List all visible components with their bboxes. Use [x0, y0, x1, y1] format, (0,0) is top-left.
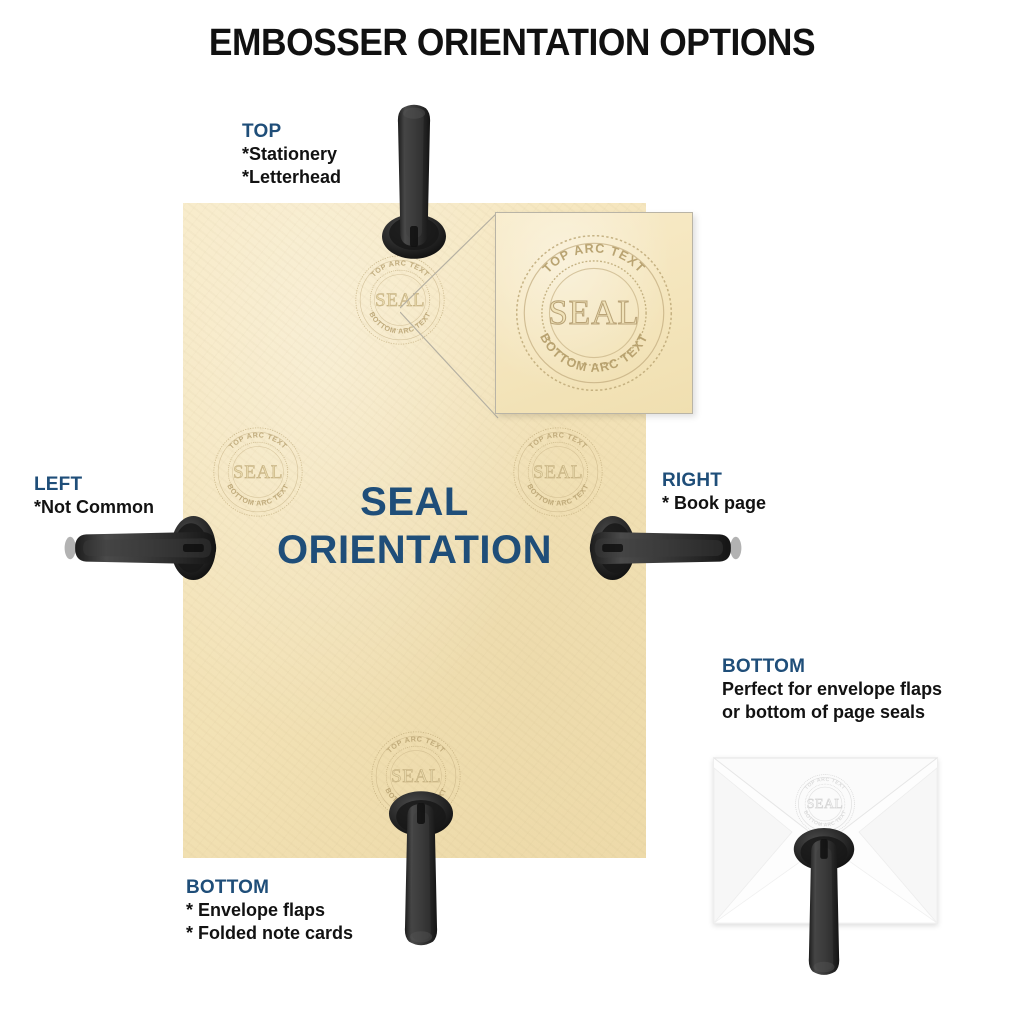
- callout-bottom-page: BOTTOM * Envelope flaps * Folded note ca…: [186, 876, 353, 945]
- callout-right-line1: * Book page: [662, 492, 766, 515]
- callout-left: LEFT *Not Common: [34, 473, 154, 519]
- callout-top-line2: *Letterhead: [242, 166, 341, 189]
- seal-impression-top: TOP ARC TEXT BOTTOM ARC TEXT SEAL: [352, 252, 448, 348]
- callout-bottom-page-line1: * Envelope flaps: [186, 899, 353, 922]
- embosser-tool-envelope[interactable]: [790, 812, 858, 992]
- callout-bottom-page-line2: * Folded note cards: [186, 922, 353, 945]
- callout-bottom-envelope: BOTTOM Perfect for envelope flaps or bot…: [722, 655, 942, 724]
- callout-bottom-page-heading: BOTTOM: [186, 876, 353, 899]
- seal-impression-magnified: TOP ARC TEXT BOTTOM ARC TEXT SEAL: [510, 229, 678, 397]
- callout-left-heading: LEFT: [34, 473, 154, 496]
- callout-top: TOP *Stationery *Letterhead: [242, 120, 341, 189]
- illustration-canvas: EMBOSSER ORIENTATION OPTIONS TOP ARC TEX…: [0, 0, 1024, 1024]
- svg-text:BOTTOM ARC TEXT: BOTTOM ARC TEXT: [537, 331, 651, 375]
- callout-bottom-envelope-line1: Perfect for envelope flaps: [722, 678, 942, 701]
- svg-text:BOTTOM ARC TEXT: BOTTOM ARC TEXT: [367, 310, 432, 335]
- callout-right: RIGHT * Book page: [662, 469, 766, 515]
- callout-top-line1: *Stationery: [242, 143, 341, 166]
- embosser-tool-bottom[interactable]: [385, 782, 457, 954]
- svg-text:TOP ARC TEXT: TOP ARC TEXT: [540, 241, 648, 275]
- svg-text:TOP ARC TEXT: TOP ARC TEXT: [804, 777, 847, 792]
- svg-text:SEAL: SEAL: [807, 796, 843, 812]
- embosser-tool-left[interactable]: [44, 512, 234, 584]
- magnified-detail-box: TOP ARC TEXT BOTTOM ARC TEXT SEAL: [495, 212, 693, 414]
- callout-bottom-envelope-heading: BOTTOM: [722, 655, 942, 678]
- svg-text:SEAL: SEAL: [548, 293, 640, 332]
- callout-bottom-envelope-line2: or bottom of page seals: [722, 701, 942, 724]
- callout-left-line1: *Not Common: [34, 496, 154, 519]
- page-title: EMBOSSER ORIENTATION OPTIONS: [36, 22, 988, 65]
- embosser-tool-right[interactable]: [572, 512, 762, 584]
- callout-right-heading: RIGHT: [662, 469, 766, 492]
- embosser-tool-top[interactable]: [378, 102, 450, 262]
- callout-top-heading: TOP: [242, 120, 341, 143]
- svg-text:SEAL: SEAL: [375, 290, 425, 311]
